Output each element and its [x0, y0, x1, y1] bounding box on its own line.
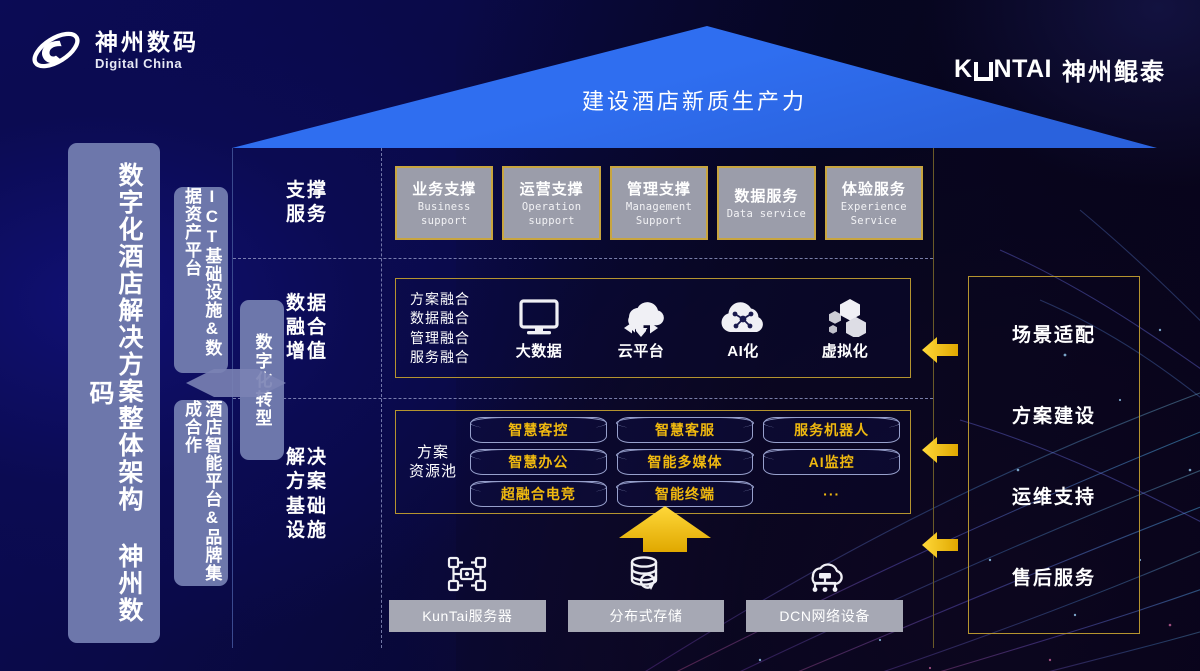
pool-item-service-robot[interactable]: 服务机器人 [763, 417, 900, 443]
infra-distributed-storage[interactable]: 分布式存储 [568, 550, 725, 632]
tech-caption: 虚拟化 [822, 340, 869, 361]
support-box-operation[interactable]: 运营支撑 Operation support [502, 166, 600, 240]
infra-label: KunTai服务器 [389, 600, 546, 632]
fusion-item: 方案融合 [410, 290, 470, 308]
tech-bigdata[interactable]: 大数据 [495, 295, 583, 361]
cloud-sync-icon [617, 295, 665, 337]
support-box-experience[interactable]: 体验服务 Experience Service [825, 166, 923, 240]
pool-item-smart-service[interactable]: 智慧客服 [617, 417, 754, 443]
data-fusion-row: 数据 融合 增值 方案融合 数据融合 管理融合 服务融合 [233, 258, 933, 398]
fusion-container: 方案融合 数据融合 管理融合 服务融合 大 [395, 278, 911, 378]
tech-cloud-platform[interactable]: 云平台 [597, 295, 685, 361]
support-box-grid: 业务支撑 Business support 运营支撑 Operation sup… [381, 166, 933, 240]
server-cluster-icon [445, 550, 489, 594]
pool-item-smart-room-control[interactable]: 智慧客控 [470, 417, 607, 443]
support-box-title: 管理支撑 [627, 178, 691, 199]
upward-arrow-icon [615, 504, 715, 554]
service-after-sales[interactable]: 售后服务 [1012, 563, 1096, 590]
support-box-business[interactable]: 业务支撑 Business support [395, 166, 493, 240]
cloud-network-icon [801, 550, 849, 594]
service-solution-construction[interactable]: 方案建设 [1012, 401, 1096, 428]
pool-column-1: 智慧客控 智慧办公 超融合电竞 [470, 417, 607, 507]
monitor-icon [518, 295, 560, 337]
fusion-item: 管理融合 [410, 329, 470, 347]
support-box-subtitle: Business support [399, 201, 489, 228]
pool-item-ai-monitoring[interactable]: AI监控 [763, 449, 900, 475]
left-arrow-icon-2 [922, 435, 958, 465]
roof-title: 建设酒店新质生产力 [232, 84, 1157, 116]
ict-platform-panel[interactable]: ICT基础设施&数据资产平台 [174, 187, 228, 373]
tech-ai[interactable]: AI化 [699, 295, 787, 361]
tech-caption: 大数据 [516, 340, 563, 361]
roof-banner: 建设酒店新质生产力 [232, 22, 1157, 150]
support-box-title: 体验服务 [842, 178, 906, 199]
logo-en-text: Digital China [95, 56, 199, 71]
support-box-management[interactable]: 管理支撑 Management Support [610, 166, 708, 240]
pool-column-2: 智慧客服 智能多媒体 智能终端 [617, 417, 754, 507]
hotel-platform-panel[interactable]: 酒店智能平台&品牌集成合作 [174, 400, 228, 586]
infrastructure-items: KunTai服务器 分布 [381, 550, 911, 632]
tech-virtualization[interactable]: 虚拟化 [801, 295, 889, 361]
infra-label: DCN网络设备 [746, 600, 903, 632]
infra-dcn-network[interactable]: DCN网络设备 [746, 550, 903, 632]
cubes-icon [823, 295, 867, 337]
infra-label: 分布式存储 [568, 600, 725, 632]
tech-caption: 云平台 [618, 340, 665, 361]
pool-column-3: 服务机器人 AI监控 ··· [763, 417, 900, 507]
fusion-item: 服务融合 [410, 348, 470, 366]
left-arrow-icon-3 [922, 530, 958, 560]
tech-caption: AI化 [727, 340, 759, 361]
row-label-support: 支撑 服务 [233, 179, 381, 228]
left-arrow-icon-1 [922, 335, 958, 365]
support-box-subtitle: Operation support [506, 201, 596, 228]
resource-pool-label: 方案 资源池 [406, 443, 460, 482]
support-box-title: 业务支撑 [412, 178, 476, 199]
resource-pool-container: 方案 资源池 智慧客控 智慧办公 超融合电竞 智慧客服 智能多媒体 智能终端 [395, 410, 911, 514]
pool-item-smart-office[interactable]: 智慧办公 [470, 449, 607, 475]
pool-item-more[interactable]: ··· [763, 481, 900, 507]
pool-item-hyperconverged-esports[interactable]: 超融合电竞 [470, 481, 607, 507]
fusion-list: 方案融合 数据融合 管理融合 服务融合 [410, 290, 480, 367]
solution-infrastructure-row: 解决 方案 基础 设施 方案 资源池 智慧客控 智慧办公 超融合电竞 智慧 [233, 398, 933, 648]
main-architecture-title: 数字化酒店解决方案整体架构 神州数码 [68, 143, 160, 643]
support-box-title: 数据服务 [734, 185, 798, 206]
support-box-title: 运营支撑 [520, 178, 584, 199]
house-body: 支撑 服务 业务支撑 Business support 运营支撑 Operati… [232, 148, 934, 648]
support-box-data-service[interactable]: 数据服务 Data service [717, 166, 815, 240]
tech-items: 大数据 [488, 295, 896, 361]
support-services-row: 支撑 服务 业务支撑 Business support 运营支撑 Operati… [233, 148, 933, 258]
service-capabilities-panel: 场景适配 方案建设 运维支持 售后服务 [968, 276, 1140, 634]
cloud-ai-icon [719, 295, 767, 337]
fusion-item: 数据融合 [410, 309, 470, 327]
swirl-galaxy-icon [28, 24, 84, 76]
service-ops-support[interactable]: 运维支持 [1012, 482, 1096, 509]
pool-item-smart-multimedia[interactable]: 智能多媒体 [617, 449, 754, 475]
support-box-subtitle: Experience Service [841, 201, 907, 228]
transformation-diamond-connector [186, 366, 286, 400]
support-box-subtitle: Management Support [626, 201, 692, 228]
logo-cn-text: 神州数码 [95, 29, 199, 55]
infra-kuntai-server[interactable]: KunTai服务器 [389, 550, 546, 632]
service-scene-adaptation[interactable]: 场景适配 [1012, 320, 1096, 347]
resource-pool-columns: 智慧客控 智慧办公 超融合电竞 智慧客服 智能多媒体 智能终端 服务机器人 AI… [470, 417, 900, 507]
digital-china-logo: 神州数码 Digital China [28, 24, 199, 76]
database-sync-icon [624, 550, 668, 594]
support-box-subtitle: Data service [727, 208, 806, 221]
